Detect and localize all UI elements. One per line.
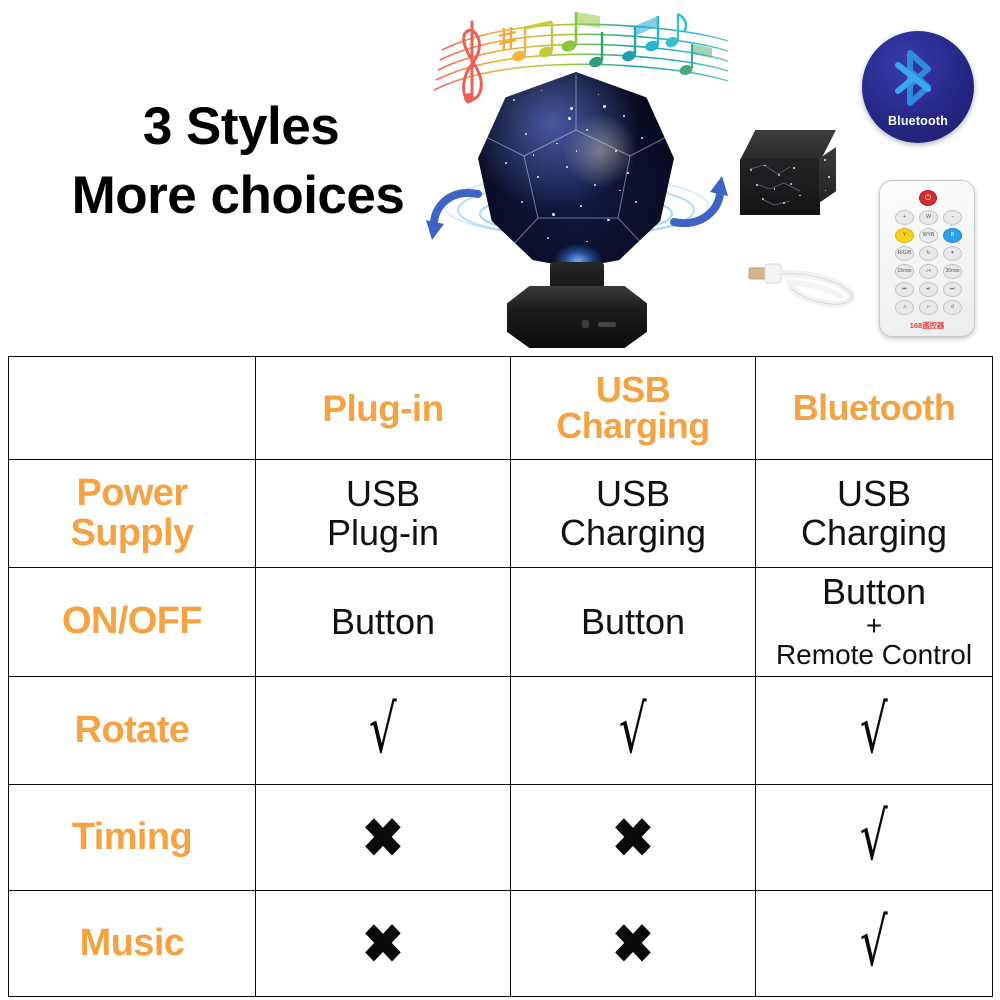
cell-onoff-usb: Button — [511, 568, 756, 677]
cell-music-plugin: ✖ — [256, 891, 511, 997]
bluetooth-badge: Bluetooth — [862, 31, 974, 143]
remote-button-blue[interactable]: B — [943, 228, 962, 243]
cell-onoff-plugin-text: Button — [260, 603, 506, 641]
constellation-gift-box — [740, 130, 850, 220]
check-icon: √ — [619, 697, 647, 763]
cell-power-bt-line2: Charging — [801, 512, 947, 553]
remote-button-repeat[interactable]: ↺ — [943, 300, 962, 315]
row-label-power-supply: Power Supply — [9, 460, 256, 568]
check-icon: √ — [369, 697, 397, 763]
header-cell-usb-charging: USB Charging — [511, 357, 756, 460]
row-label-rotate: Rotate — [9, 677, 256, 785]
gift-box-front — [740, 159, 820, 215]
remote-control[interactable]: ⏻ + W − Y WYB B R/G/B ↻ ✶ 15min ♪+ 30min… — [879, 180, 975, 337]
cell-timing-usb: ✖ — [511, 785, 756, 891]
cell-power-plugin-line2: Plug-in — [327, 512, 439, 553]
cell-power-usb-line1: USB — [596, 473, 670, 514]
cell-onoff-bt-line1: Button — [822, 571, 926, 612]
constellation-lines — [740, 159, 820, 215]
lamp-switch — [582, 320, 589, 328]
row-label-onoff: ON/OFF — [9, 568, 256, 677]
table-row: Music ✖ ✖ √ — [9, 891, 993, 997]
table-row: Timing ✖ ✖ √ — [9, 785, 993, 891]
cell-power-usb-line2: Charging — [560, 512, 706, 553]
cell-power-plugin-line1: USB — [346, 473, 420, 514]
cell-power-bt-line1: USB — [837, 473, 911, 514]
cross-icon: ✖ — [362, 811, 404, 864]
page-title: 3 Styles More choices — [28, 98, 448, 224]
cell-onoff-bt-plus: + — [760, 611, 988, 640]
remote-button-flash[interactable]: ✶ — [943, 246, 962, 261]
remote-button-rotate[interactable]: ↻ — [919, 246, 938, 261]
header-label-bluetooth: Bluetooth — [760, 390, 988, 426]
remote-button-volume-up[interactable]: ♪+ — [919, 264, 938, 279]
table-row: Power Supply USB Plug-in USB Charging — [9, 460, 993, 568]
row-label-timing: Timing — [9, 785, 256, 891]
cross-icon: ✖ — [362, 917, 404, 970]
row-label-power-line2: Supply — [70, 512, 193, 554]
remote-button-w[interactable]: W — [919, 210, 938, 225]
remote-button-music-mode[interactable]: ♫ — [895, 300, 914, 315]
cross-icon: ✖ — [612, 917, 654, 970]
cell-timing-plugin: ✖ — [256, 785, 511, 891]
remote-button-next[interactable]: ⏭ — [943, 282, 962, 297]
remote-button-power[interactable]: ⏻ — [919, 190, 937, 206]
header-label-plugin: Plug-in — [260, 390, 506, 427]
cell-onoff-bluetooth: Button + Remote Control — [756, 568, 993, 677]
table-header-row: Plug-in USB Charging Bluetooth — [9, 357, 993, 460]
product-comparison-page: 3 Styles More choices — [0, 0, 1000, 1000]
usb-cable — [745, 250, 875, 312]
headline-line-1: 3 Styles — [28, 98, 448, 155]
remote-button-volume-down[interactable]: ♪- — [919, 300, 938, 315]
check-icon: √ — [860, 804, 888, 870]
cell-timing-bluetooth: √ — [756, 785, 993, 891]
cell-music-usb: ✖ — [511, 891, 756, 997]
star-projector-lamp — [430, 66, 722, 356]
remote-model-label: 168遥控器 — [880, 320, 974, 331]
table-row: Rotate √ √ √ — [9, 677, 993, 785]
cell-rotate-plugin: √ — [256, 677, 511, 785]
row-label-timing-text: Timing — [13, 818, 251, 858]
rotate-arrow-left-icon — [426, 184, 488, 246]
header-label-usb-line2: Charging — [556, 405, 709, 446]
check-icon: √ — [860, 910, 888, 976]
cell-onoff-bt-line3: Remote Control — [760, 640, 988, 671]
remote-button-play-pause[interactable]: ⏯ — [919, 282, 938, 297]
row-label-music: Music — [9, 891, 256, 997]
check-icon: √ — [860, 697, 888, 763]
rotate-arrow-right-icon — [666, 170, 728, 232]
cell-onoff-plugin: Button — [256, 568, 511, 677]
header-cell-bluetooth: Bluetooth — [756, 357, 993, 460]
remote-button-previous[interactable]: ⏮ — [895, 282, 914, 297]
remote-button-yellow[interactable]: Y — [895, 228, 914, 243]
cell-onoff-usb-text: Button — [515, 603, 751, 641]
remote-button-minus[interactable]: − — [943, 210, 962, 225]
lamp-base — [507, 286, 647, 348]
header-label-usb-line1: USB — [596, 369, 670, 410]
row-label-onoff-text: ON/OFF — [13, 602, 251, 642]
header-cell-plugin: Plug-in — [256, 357, 511, 460]
lamp-usb-port — [598, 322, 616, 327]
cross-icon: ✖ — [612, 811, 654, 864]
cell-power-plugin: USB Plug-in — [256, 460, 511, 568]
row-label-music-text: Music — [13, 924, 251, 964]
cell-power-usb: USB Charging — [511, 460, 756, 568]
bluetooth-badge-label: Bluetooth — [862, 114, 974, 128]
gift-box-lid — [740, 130, 836, 160]
comparison-table: Plug-in USB Charging Bluetooth Power Sup — [8, 356, 993, 997]
cell-power-bluetooth: USB Charging — [756, 460, 993, 568]
cell-music-bluetooth: √ — [756, 891, 993, 997]
row-label-power-line1: Power — [76, 472, 187, 514]
headline-line-2: More choices — [28, 167, 448, 224]
cell-rotate-usb: √ — [511, 677, 756, 785]
row-label-rotate-text: Rotate — [13, 711, 251, 751]
hero-section: 3 Styles More choices — [0, 0, 1000, 352]
remote-button-timer-30min[interactable]: 30min — [943, 264, 962, 279]
remote-button-rgb[interactable]: R/G/B — [895, 246, 914, 261]
remote-button-timer-15min[interactable]: 15min — [895, 264, 914, 279]
table-row: ON/OFF Button Button Button + Remote Con… — [9, 568, 993, 677]
remote-button-plus[interactable]: + — [895, 210, 914, 225]
remote-button-wyb[interactable]: WYB — [919, 228, 938, 243]
bluetooth-icon — [890, 45, 946, 111]
cell-rotate-bluetooth: √ — [756, 677, 993, 785]
header-cell-empty — [9, 357, 256, 460]
